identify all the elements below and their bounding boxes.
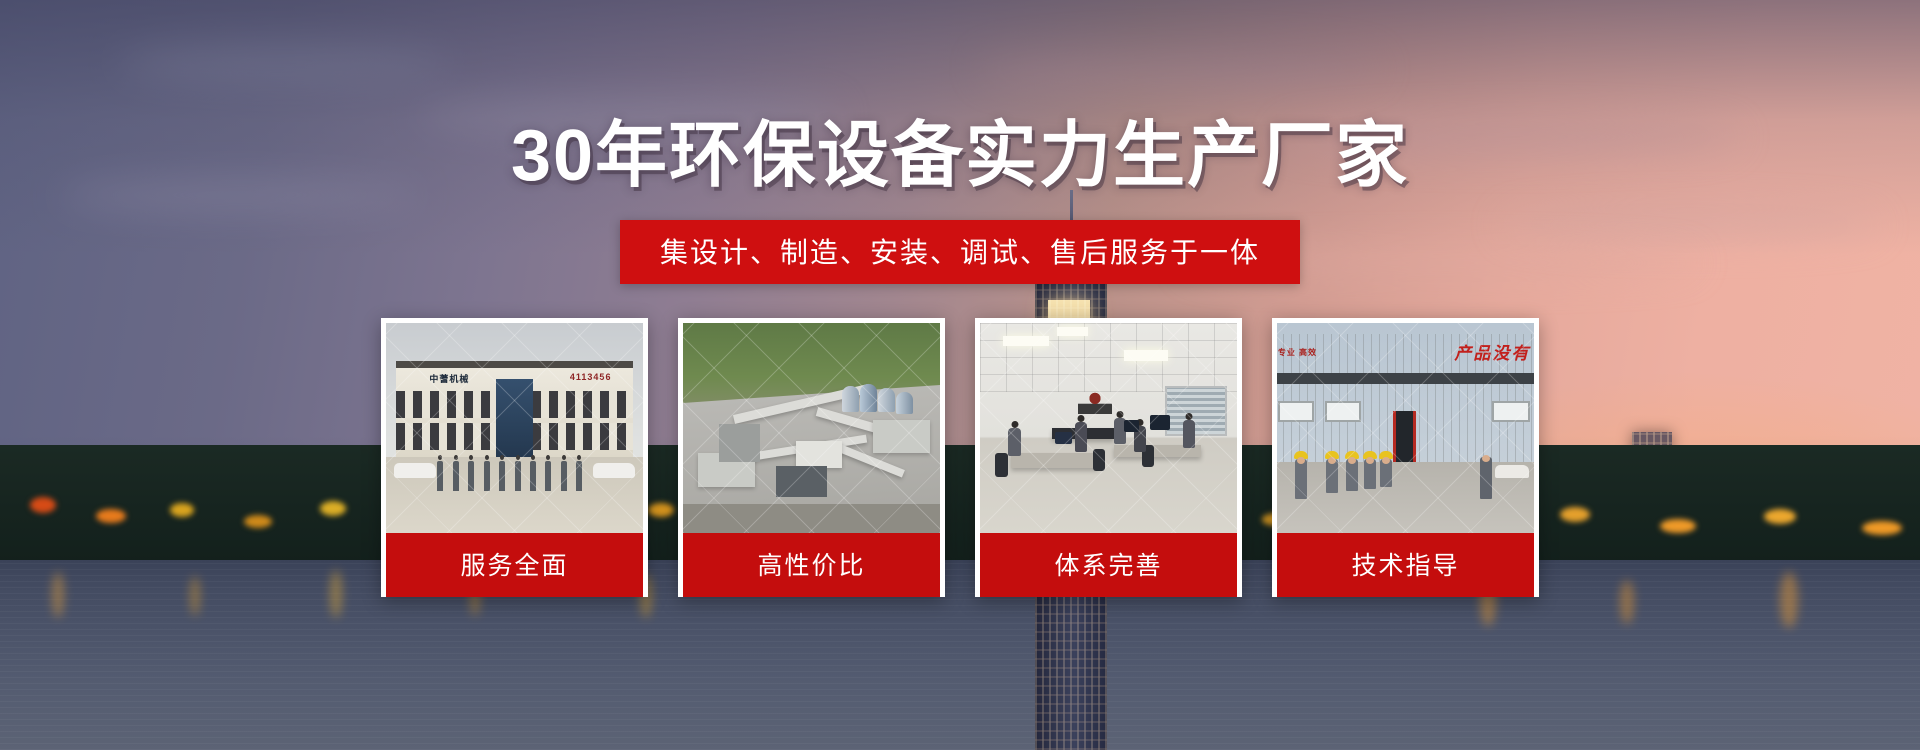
card-caption: 体系完善 — [980, 533, 1237, 597]
building-phone-text: 4113456 — [570, 372, 612, 382]
factory-sign-text: 产品没有 — [1454, 339, 1530, 364]
feature-card[interactable]: 中蓍机械 4113456 — [381, 318, 648, 597]
page-title: 30年环保设备实力生产厂家 — [511, 120, 1409, 192]
card-caption: 服务全面 — [386, 533, 643, 597]
aerial-plant-photo — [683, 323, 940, 533]
feature-card[interactable]: 体系完善 — [975, 318, 1242, 597]
subtitle-badge: 集设计、制造、安装、调试、售后服务于一体 — [620, 220, 1300, 284]
hero-banner: 30年环保设备实力生产厂家 集设计、制造、安装、调试、售后服务于一体 中蓍机械 … — [0, 0, 1920, 750]
card-caption: 技术指导 — [1277, 533, 1534, 597]
workers-training-photo: 产品没有 专业 高效 — [1277, 323, 1534, 533]
office-interior-photo — [980, 323, 1237, 533]
building-sign-text: 中蓍机械 — [429, 372, 469, 385]
factory-slogan-text: 专业 高效 — [1278, 347, 1317, 358]
company-headquarters-photo: 中蓍机械 4113456 — [386, 323, 643, 533]
feature-card[interactable]: 产品没有 专业 高效 — [1272, 318, 1539, 597]
feature-card-list: 中蓍机械 4113456 — [381, 318, 1539, 597]
card-caption: 高性价比 — [683, 533, 940, 597]
banner-content: 30年环保设备实力生产厂家 集设计、制造、安装、调试、售后服务于一体 中蓍机械 … — [0, 0, 1920, 750]
feature-card[interactable]: 高性价比 — [678, 318, 945, 597]
